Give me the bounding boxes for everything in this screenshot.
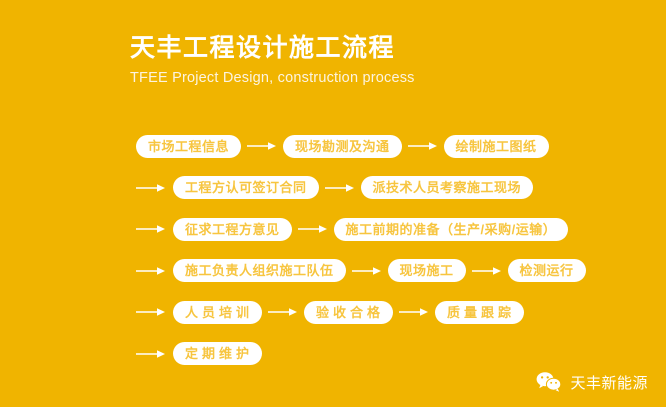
arrow-icon bbox=[136, 305, 166, 319]
arrow-icon bbox=[136, 264, 166, 278]
flow-step[interactable]: 市场工程信息 bbox=[136, 135, 241, 158]
flow-step[interactable]: 派技术人员考察施工现场 bbox=[361, 176, 534, 199]
flow-row: 定期维护 bbox=[136, 341, 606, 367]
flow-step[interactable]: 定期维护 bbox=[173, 342, 262, 365]
flow-step[interactable]: 施工负责人组织施工队伍 bbox=[173, 259, 346, 282]
wechat-icon bbox=[536, 371, 562, 393]
flow-step[interactable]: 检测运行 bbox=[508, 259, 586, 282]
footer-brand: 天丰新能源 bbox=[536, 371, 648, 393]
flow-step[interactable]: 人员培训 bbox=[173, 301, 262, 324]
flow-row: 人员培训验收合格质量跟踪 bbox=[136, 299, 606, 325]
flow-step[interactable]: 工程方认可签订合同 bbox=[173, 176, 319, 199]
arrow-icon bbox=[136, 222, 166, 236]
flow-row: 施工负责人组织施工队伍现场施工检测运行 bbox=[136, 258, 606, 284]
arrow-icon bbox=[399, 305, 429, 319]
arrow-icon bbox=[298, 222, 328, 236]
arrow-icon bbox=[136, 347, 166, 361]
flow-row: 工程方认可签订合同派技术人员考察施工现场 bbox=[136, 175, 606, 201]
flow-row: 征求工程方意见施工前期的准备（生产/采购/运输） bbox=[136, 216, 606, 242]
flow-step[interactable]: 现场施工 bbox=[388, 259, 466, 282]
slide-header: 天丰工程设计施工流程 TFEE Project Design, construc… bbox=[130, 33, 610, 86]
flow-step[interactable]: 征求工程方意见 bbox=[173, 218, 292, 241]
arrow-icon bbox=[247, 139, 277, 153]
page-title: 天丰工程设计施工流程 bbox=[130, 33, 610, 64]
brand-name: 天丰新能源 bbox=[570, 372, 648, 393]
process-flow-diagram: 市场工程信息现场勘测及沟通绘制施工图纸工程方认可签订合同派技术人员考察施工现场征… bbox=[136, 133, 606, 367]
arrow-icon bbox=[325, 181, 355, 195]
arrow-icon bbox=[352, 264, 382, 278]
arrow-icon bbox=[136, 181, 166, 195]
slide-canvas: 天丰工程设计施工流程 TFEE Project Design, construc… bbox=[0, 0, 666, 407]
page-subtitle: TFEE Project Design, construction proces… bbox=[130, 70, 610, 86]
flow-step[interactable]: 质量跟踪 bbox=[435, 301, 524, 324]
flow-step[interactable]: 现场勘测及沟通 bbox=[283, 135, 402, 158]
flow-step[interactable]: 验收合格 bbox=[304, 301, 393, 324]
arrow-icon bbox=[408, 139, 438, 153]
arrow-icon bbox=[268, 305, 298, 319]
flow-step[interactable]: 施工前期的准备（生产/采购/运输） bbox=[334, 218, 569, 241]
flow-step[interactable]: 绘制施工图纸 bbox=[444, 135, 549, 158]
flow-row: 市场工程信息现场勘测及沟通绘制施工图纸 bbox=[136, 133, 606, 159]
arrow-icon bbox=[472, 264, 502, 278]
